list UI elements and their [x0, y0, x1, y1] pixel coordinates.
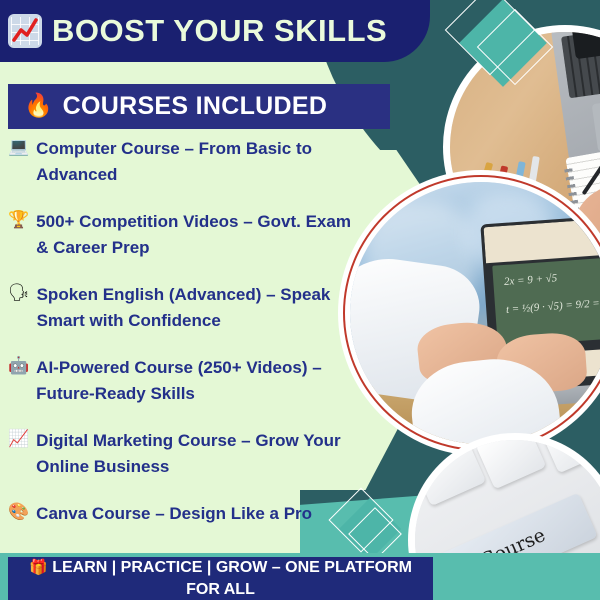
gift-icon: 🎁	[29, 558, 48, 576]
list-item[interactable]: 🏆 500+ Competition Videos – Govt. Exam &…	[8, 209, 360, 260]
list-item[interactable]: 🤖 AI-Powered Course (250+ Videos) – Futu…	[8, 355, 360, 406]
trophy-icon: 🏆	[8, 209, 29, 231]
equation-line-1: 2x = 9 + √5	[504, 272, 558, 288]
robot-icon: 🤖	[8, 355, 29, 377]
online-label: Online	[585, 220, 600, 239]
banner-title: COURSES INCLUDED	[63, 92, 328, 121]
footer-banner: 🎁 LEARN | PRACTICE | GROW – ONE PLATFORM…	[8, 557, 433, 600]
list-item[interactable]: 🗣 Spoken English (Advanced) – Speak Smar…	[8, 282, 360, 333]
header-bar: BOOST YOUR SKILLS	[0, 0, 430, 62]
list-item[interactable]: 💻 Computer Course – From Basic to Advanc…	[8, 136, 360, 187]
course-list: 💻 Computer Course – From Basic to Advanc…	[8, 136, 360, 549]
course-label: 500+ Competition Videos – Govt. Exam & C…	[36, 209, 360, 260]
course-label: Digital Marketing Course – Grow Your Onl…	[36, 428, 360, 479]
desk-laptop-trackpad	[592, 92, 600, 153]
list-item[interactable]: 🎨 Canva Course – Design Like a Pro	[8, 501, 360, 527]
laptop-icon: 💻	[8, 136, 29, 158]
course-label: AI-Powered Course (250+ Videos) – Future…	[36, 355, 360, 406]
equation-line-2: t = ½(9 · √5) = 9/2 = 5	[506, 296, 600, 315]
list-item[interactable]: 📈 Digital Marketing Course – Grow Your O…	[8, 428, 360, 479]
chart-increasing-icon	[8, 14, 42, 48]
chart-increasing-icon: 📈	[8, 428, 29, 450]
speaking-head-icon: 🗣	[8, 282, 30, 304]
page-title: BOOST YOUR SKILLS	[52, 13, 387, 49]
diamond-cluster-top	[450, 0, 570, 104]
course-label: Canva Course – Design Like a Pro	[36, 501, 312, 527]
online-class-photo: Online 2x = 9 + √5 t = ½(9 · √5) = 9/2 =…	[350, 182, 600, 444]
course-label: Spoken English (Advanced) – Speak Smart …	[37, 282, 360, 333]
courses-included-banner: 🔥 COURSES INCLUDED	[8, 84, 390, 129]
artist-palette-icon: 🎨	[8, 501, 29, 523]
poster-canvas: Online 2x = 9 + √5 t = ½(9 · √5) = 9/2 =…	[0, 0, 600, 600]
course-label: Computer Course – From Basic to Advanced	[36, 136, 360, 187]
footer-text-wrap: 🎁 LEARN | PRACTICE | GROW – ONE PLATFORM…	[16, 557, 425, 600]
fire-icon: 🔥	[24, 95, 53, 118]
screen-titlebar: Online	[484, 217, 600, 263]
footer-label: LEARN | PRACTICE | GROW – ONE PLATFORM F…	[52, 559, 412, 598]
